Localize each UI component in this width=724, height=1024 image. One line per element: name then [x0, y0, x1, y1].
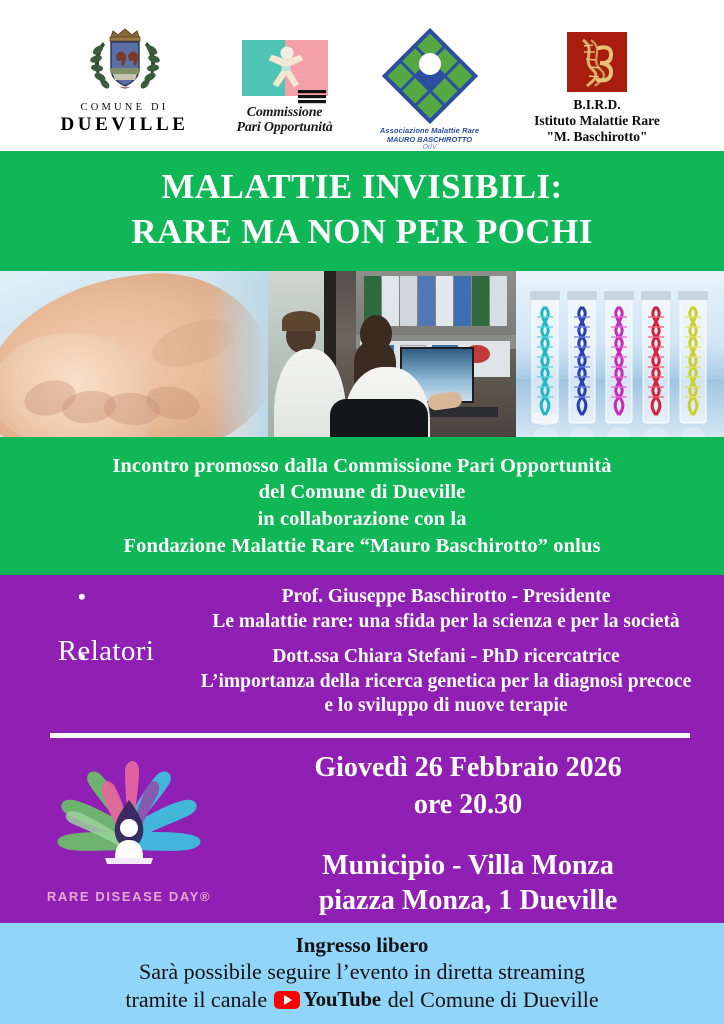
speaker-1-topic-line-1: Le malattie rare: una sfida per la scien…	[196, 610, 696, 634]
speaker-1-name: Prof. Giuseppe Baschirotto - Presidente	[282, 586, 611, 607]
relatori-label: Relatori	[16, 635, 196, 668]
promo-line-2: del Comune di Dueville	[20, 479, 704, 506]
event-time: ore 20.30	[244, 787, 692, 823]
channel-prefix: tramite il canale	[125, 986, 267, 1014]
bird-line2: Istituto Malattie Rare	[534, 113, 660, 129]
speaker-2-name-row: • Dott.ssa Chiara Stefani - PhD ricercat…	[196, 645, 696, 669]
speaker-2-topic-line-2: e lo sviluppo di nuove terapie	[196, 694, 696, 718]
green-diamond-grid-icon	[382, 28, 478, 124]
speakers-row: Relatori • Prof. Giuseppe Baschirotto - …	[0, 575, 724, 721]
cpo-line2: Pari Opportunità	[237, 120, 333, 135]
bullet-icon: •	[78, 646, 86, 668]
holding-hands-photo	[0, 271, 268, 437]
event-poster: COMUNE DI DUEVILLE Commissione Pari Oppo…	[0, 0, 724, 1024]
speaker-2-topic-line-1: L’importanza della ricerca genetica per …	[196, 670, 696, 694]
cpo-caption: Commissione Pari Opportunità	[237, 105, 333, 135]
promo-line-3: in collaborazione con la	[20, 506, 704, 533]
laboratory-researchers-photo	[268, 271, 516, 437]
amr-line1: Associazione Malattie Rare	[380, 126, 479, 135]
amr-line2: MAURO BASCHIROTTO	[387, 135, 472, 144]
amr-line3: OdV	[422, 144, 436, 151]
channel-suffix: del Comune di Dueville	[388, 986, 599, 1014]
title-line-2: RARE MA NON PER POCHI	[10, 210, 714, 255]
event-venue-line-2: piazza Monza, 1 Dueville	[244, 884, 692, 919]
dueville-line1: COMUNE DI	[80, 102, 168, 113]
logo-bar: COMUNE DI DUEVILLE Commissione Pari Oppo…	[0, 0, 724, 151]
promo-line-4: Fondazione Malattie Rare “Mauro Baschiro…	[20, 533, 704, 560]
logo-associazione-malattie-rare: Associazione Malattie Rare MAURO BASCHIR…	[355, 26, 505, 151]
youtube-play-icon	[274, 991, 300, 1009]
footer-band: Ingresso libero Sarà possibile seguire l…	[0, 923, 724, 1024]
poster-title-band: MALATTIE INVISIBILI: RARE MA NON PER POC…	[0, 151, 724, 271]
speaker-2-name: Dott.ssa Chiara Stefani - PhD ricercatri…	[272, 646, 619, 667]
municipal-crest-icon	[83, 26, 167, 98]
logo-commissione-pari-opportunita: Commissione Pari Opportunità	[215, 26, 355, 135]
bullet-icon: •	[78, 586, 86, 608]
logo-comune-di-dueville: COMUNE DI DUEVILLE	[35, 26, 215, 136]
rare-disease-day-hands-logo	[49, 754, 209, 886]
rare-disease-day-caption: RARE DISEASE DAY®	[47, 889, 211, 904]
free-entry-label: Ingresso libero	[12, 933, 712, 958]
youtube-logo[interactable]: YouTube	[274, 986, 381, 1013]
event-venue-line-1: Municipio - Villa Monza	[244, 849, 692, 884]
equal-opportunity-figure-icon	[242, 40, 328, 96]
title-line-1: MALATTIE INVISIBILI:	[10, 165, 714, 210]
rare-disease-day-block: RARE DISEASE DAY®	[14, 750, 244, 904]
logo-bird-istituto: B.I.R.D. Istituto Malattie Rare "M. Basc…	[505, 26, 690, 145]
details-section: Relatori • Prof. Giuseppe Baschirotto - …	[0, 575, 724, 922]
photo-strip	[0, 271, 724, 437]
promoter-band: Incontro promosso dalla Commissione Pari…	[0, 437, 724, 576]
youtube-wordmark: YouTube	[303, 986, 381, 1013]
dna-helix-red-square-icon	[567, 32, 627, 92]
youtube-channel-note: tramite il canale YouTube del Comune di …	[12, 986, 712, 1014]
speaker-1-name-row: • Prof. Giuseppe Baschirotto - President…	[196, 585, 696, 609]
bird-line3: "M. Baschirotto"	[534, 129, 660, 145]
bird-caption: B.I.R.D. Istituto Malattie Rare "M. Basc…	[534, 97, 660, 145]
dna-test-tubes-photo	[516, 271, 724, 437]
speakers-list: • Prof. Giuseppe Baschirotto - President…	[196, 585, 708, 717]
event-details-row: RARE DISEASE DAY® Giovedì 26 Febbraio 20…	[0, 738, 724, 918]
event-when-where: Giovedì 26 Febbraio 2026 ore 20.30 Munic…	[244, 750, 710, 918]
promo-line-1: Incontro promosso dalla Commissione Pari…	[20, 453, 704, 480]
speaker-item: • Dott.ssa Chiara Stefani - PhD ricercat…	[196, 645, 696, 717]
cpo-line1: Commissione	[237, 105, 333, 120]
speaker-item: • Prof. Giuseppe Baschirotto - President…	[196, 585, 696, 633]
dueville-line2: DUEVILLE	[60, 114, 188, 136]
event-date: Giovedì 26 Febbraio 2026	[244, 750, 692, 786]
streaming-note: Sarà possibile seguire l’evento in diret…	[12, 958, 712, 986]
bird-line1: B.I.R.D.	[534, 97, 660, 113]
